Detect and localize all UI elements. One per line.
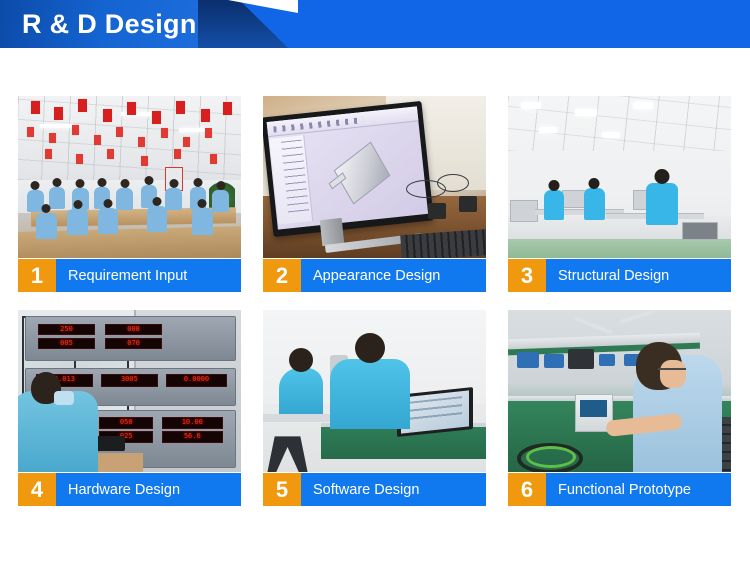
step-card-1[interactable]: 1 Requirement Input — [18, 96, 241, 292]
step-photo-1 — [18, 96, 241, 258]
step-label-bar-5[interactable]: 5 Software Design — [263, 473, 486, 506]
led-readout: 005 — [39, 339, 93, 348]
led-readout: 070 — [106, 339, 160, 348]
steps-row-2: 250 008 005 070 0.013 3005 0.0000 170 05… — [18, 310, 733, 506]
step-label-4: Hardware Design — [56, 473, 241, 506]
steps-grid: 1 Requirement Input — [18, 96, 733, 524]
step-photo-3 — [508, 96, 731, 258]
led-readout: 56.6 — [163, 432, 222, 441]
step-label-5: Software Design — [301, 473, 486, 506]
step-label-bar-1[interactable]: 1 Requirement Input — [18, 259, 241, 292]
step-card-6[interactable]: 6 Functional Prototype — [508, 310, 731, 506]
led-readout: 0.0000 — [167, 375, 226, 384]
step-card-3[interactable]: 3 Structural Design — [508, 96, 731, 292]
led-readout: 3005 — [102, 375, 156, 384]
step-photo-5 — [263, 310, 486, 472]
step-label-bar-4[interactable]: 4 Hardware Design — [18, 473, 241, 506]
step-label-2: Appearance Design — [301, 259, 486, 292]
step-photo-4: 250 008 005 070 0.013 3005 0.0000 170 05… — [18, 310, 241, 472]
step-number-5: 5 — [263, 473, 301, 506]
step-label-bar-3[interactable]: 3 Structural Design — [508, 259, 731, 292]
step-number-6: 6 — [508, 473, 546, 506]
step-number-1: 1 — [18, 259, 56, 292]
step-label-bar-2[interactable]: 2 Appearance Design — [263, 259, 486, 292]
step-card-4[interactable]: 250 008 005 070 0.013 3005 0.0000 170 05… — [18, 310, 241, 506]
steps-row-1: 1 Requirement Input — [18, 96, 733, 292]
step-photo-2 — [263, 96, 486, 258]
step-card-5[interactable]: 5 Software Design — [263, 310, 486, 506]
page-title: R & D Design — [22, 7, 197, 41]
step-number-2: 2 — [263, 259, 301, 292]
step-label-1: Requirement Input — [56, 259, 241, 292]
led-readout: 008 — [106, 325, 160, 334]
step-number-4: 4 — [18, 473, 56, 506]
step-photo-6 — [508, 310, 731, 472]
step-number-3: 3 — [508, 259, 546, 292]
led-readout: 050 — [100, 418, 152, 427]
step-card-2[interactable]: 2 Appearance Design — [263, 96, 486, 292]
step-label-bar-6[interactable]: 6 Functional Prototype — [508, 473, 731, 506]
led-readout: 250 — [39, 325, 93, 334]
page-header: R & D Design — [0, 0, 750, 48]
step-label-6: Functional Prototype — [546, 473, 731, 506]
step-label-3: Structural Design — [546, 259, 731, 292]
led-readout: 10.00 — [163, 418, 222, 427]
